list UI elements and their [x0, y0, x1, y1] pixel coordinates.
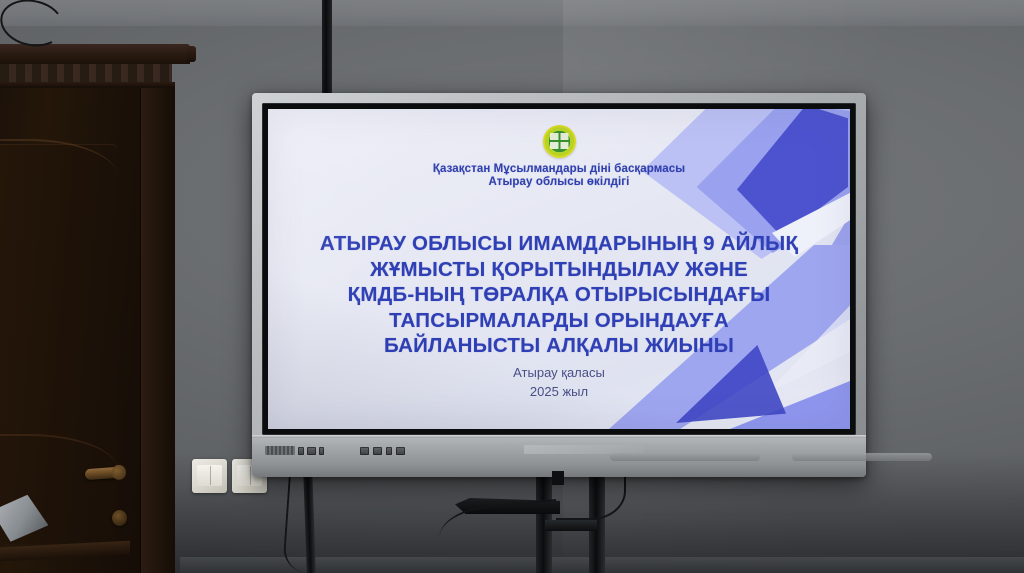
- stand-upper-pole: [322, 0, 332, 106]
- wardrobe-door-stile: [140, 88, 175, 573]
- title-line-5: БАЙЛАНЫСТЫ АЛҚАЛЫ ЖИЫНЫ: [302, 333, 816, 359]
- room-scene: Қазақстан Мұсылмандары діні басқармасы А…: [0, 0, 1024, 573]
- slide-title: АТЫРАУ ОБЛЫСЫ ИМАМДАРЫНЫҢ 9 АЙЛЫҚ ЖҰМЫСТ…: [302, 231, 816, 359]
- tv-vent-strip: [265, 446, 295, 455]
- tv-port[interactable]: [298, 447, 304, 455]
- wardrobe-keyhole[interactable]: [112, 510, 127, 526]
- title-line-2: ЖҰМЫСТЫ ҚОРЫТЫНДЫЛАУ ЖӘНЕ: [302, 257, 816, 283]
- tv-port[interactable]: [307, 447, 316, 455]
- title-line-4: ТАПСЫРМАЛАРДЫ ОРЫНДАУҒА: [302, 308, 816, 334]
- tv-speaker-grille-right: [792, 453, 932, 461]
- wardrobe-dentil-trim: [0, 64, 172, 84]
- slide-header: Қазақстан Мұсылмандары діні басқармасы А…: [268, 125, 850, 188]
- tv-power-port[interactable]: [396, 447, 405, 455]
- tv-screen[interactable]: Қазақстан Мұсылмандары діні басқармасы А…: [268, 109, 850, 429]
- tv-aux-port[interactable]: [386, 447, 392, 455]
- tv-inner-bezel: Қазақстан Мұсылмандары діні басқармасы А…: [262, 103, 856, 435]
- dark-wood-wardrobe: [0, 44, 190, 573]
- wardrobe-door-panel: [0, 144, 118, 544]
- title-line-1: АТЫРАУ ОБЛЫСЫ ИМАМДАРЫНЫҢ 9 АЙЛЫҚ: [302, 231, 816, 257]
- tv-usb-port[interactable]: [360, 447, 369, 455]
- tv-port-panel-right[interactable]: [360, 444, 436, 457]
- footer-year: 2025 жыл: [268, 382, 850, 401]
- footer-city: Атырау қаласы: [268, 363, 850, 382]
- organization-line-1: Қазақстан Мұсылмандары діні басқармасы: [433, 163, 685, 175]
- kmdb-emblem-icon: [543, 125, 576, 158]
- organization-line-2: Атырау облысы өкілдігі: [489, 176, 630, 188]
- tv-speaker-grille-left: [610, 453, 760, 461]
- interactive-flat-panel-display[interactable]: Қазақстан Мұсылмандары діні басқармасы А…: [252, 93, 866, 477]
- wardrobe-crown-molding: [0, 44, 190, 64]
- slide-footer: Атырау қаласы 2025 жыл: [268, 363, 850, 401]
- light-switch-left[interactable]: [192, 459, 227, 493]
- wardrobe-door-handle[interactable]: [85, 467, 120, 480]
- tv-cable-entry: [552, 471, 564, 485]
- presentation-slide: Қазақстан Мұсылмандары діні басқармасы А…: [268, 109, 850, 429]
- tv-bezel-highlight: [252, 435, 866, 438]
- tv-hdmi-port[interactable]: [373, 447, 382, 455]
- switch-rocker[interactable]: [197, 465, 222, 486]
- title-line-3: ҚМДБ-НЫҢ ТӨРАЛҚА ОТЫРЫСЫНДАҒЫ: [302, 282, 816, 308]
- tv-port-panel-left[interactable]: [265, 444, 353, 457]
- tv-port[interactable]: [319, 447, 324, 455]
